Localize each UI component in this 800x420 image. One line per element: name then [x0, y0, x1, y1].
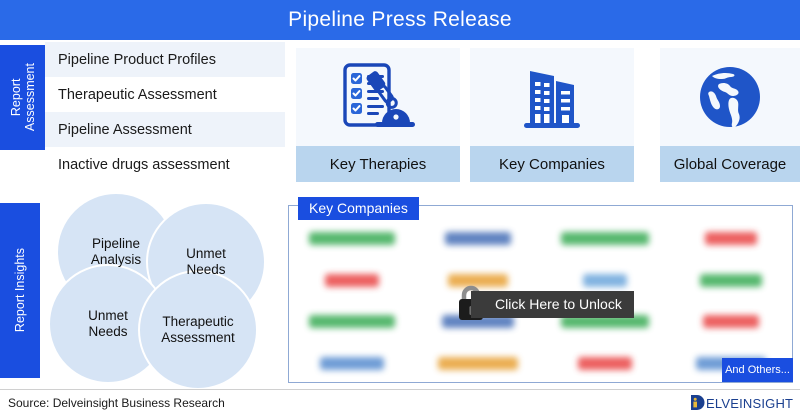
company-logo-cell — [289, 260, 415, 302]
feature-card-label: Key Therapies — [296, 146, 460, 182]
company-logo-cell — [289, 343, 415, 385]
key-companies-tab: Key Companies — [298, 197, 419, 220]
unlock-overlay[interactable]: Click Here to Unlock — [455, 282, 634, 327]
venn-circle-label: Unmet Needs — [186, 246, 226, 278]
company-logo-redacted — [561, 232, 649, 245]
company-logo-redacted — [700, 274, 762, 287]
company-logo-redacted — [438, 357, 518, 370]
press-release-infographic: Pipeline Press Release Report Assessment… — [0, 0, 800, 420]
company-logo-redacted — [445, 232, 511, 245]
footer-divider — [0, 389, 800, 390]
company-logo-redacted — [705, 232, 757, 245]
list-item[interactable]: Pipeline Product Profiles — [45, 42, 285, 77]
list-item[interactable]: Inactive drugs assessment — [45, 147, 285, 182]
feature-card-label: Key Companies — [470, 146, 634, 182]
page-title: Pipeline Press Release — [288, 8, 512, 32]
feature-card-label: Global Coverage — [660, 146, 800, 182]
report-insights-venn: Pipeline Analysis Unmet Needs Unmet Need… — [48, 192, 283, 384]
report-assessment-text: Report Assessment — [9, 63, 37, 131]
assessment-list: Pipeline Product Profiles Therapeutic As… — [45, 42, 285, 182]
company-logo-cell — [542, 343, 668, 385]
header-bar: Pipeline Press Release — [0, 0, 800, 40]
office-building-icon — [470, 48, 634, 146]
and-others-badge: And Others... — [722, 358, 793, 382]
feature-card-global-coverage[interactable]: Global Coverage — [660, 48, 800, 182]
venn-circle-label: Therapeutic Assessment — [161, 314, 235, 346]
logo-wordmark: ELVEINSIGHT — [706, 396, 793, 411]
list-item-label: Inactive drugs assessment — [58, 157, 230, 173]
list-item[interactable]: Therapeutic Assessment — [45, 77, 285, 112]
list-item-label: Pipeline Product Profiles — [58, 52, 216, 68]
company-logo-redacted — [309, 232, 395, 245]
venn-circle-label: Pipeline Analysis — [91, 236, 141, 268]
checklist-microscope-icon — [296, 48, 460, 146]
company-logo-cell — [668, 301, 794, 343]
venn-circle: Therapeutic Assessment — [138, 270, 258, 390]
logo-mark-icon — [690, 394, 706, 412]
company-logo-cell — [289, 218, 415, 260]
list-item[interactable]: Pipeline Assessment — [45, 112, 285, 147]
delveinsight-logo: ELVEINSIGHT — [690, 394, 793, 412]
company-logo-redacted — [325, 274, 379, 287]
company-logo-redacted — [703, 315, 759, 328]
company-logo-cell — [415, 343, 541, 385]
company-logo-cell — [415, 218, 541, 260]
company-logo-redacted — [320, 357, 384, 370]
list-item-label: Therapeutic Assessment — [58, 87, 217, 103]
list-item-label: Pipeline Assessment — [58, 122, 192, 138]
company-logo-cell — [542, 218, 668, 260]
venn-circle-label: Unmet Needs — [88, 308, 128, 340]
company-logo-redacted — [578, 357, 632, 370]
report-insights-text: Report Insights — [13, 248, 27, 332]
company-logo-cell — [289, 301, 415, 343]
feature-card-key-companies[interactable]: Key Companies — [470, 48, 634, 182]
company-logo-redacted — [309, 315, 395, 328]
feature-card-key-therapies[interactable]: Key Therapies — [296, 48, 460, 182]
globe-icon — [660, 48, 800, 146]
company-logo-cell — [668, 218, 794, 260]
company-logo-cell — [668, 260, 794, 302]
unlock-cta-label[interactable]: Click Here to Unlock — [471, 291, 634, 318]
section-label-report-assessment: Report Assessment — [0, 45, 45, 150]
section-label-report-insights: Report Insights — [0, 203, 40, 378]
source-note: Source: Delveinsight Business Research — [8, 396, 225, 410]
